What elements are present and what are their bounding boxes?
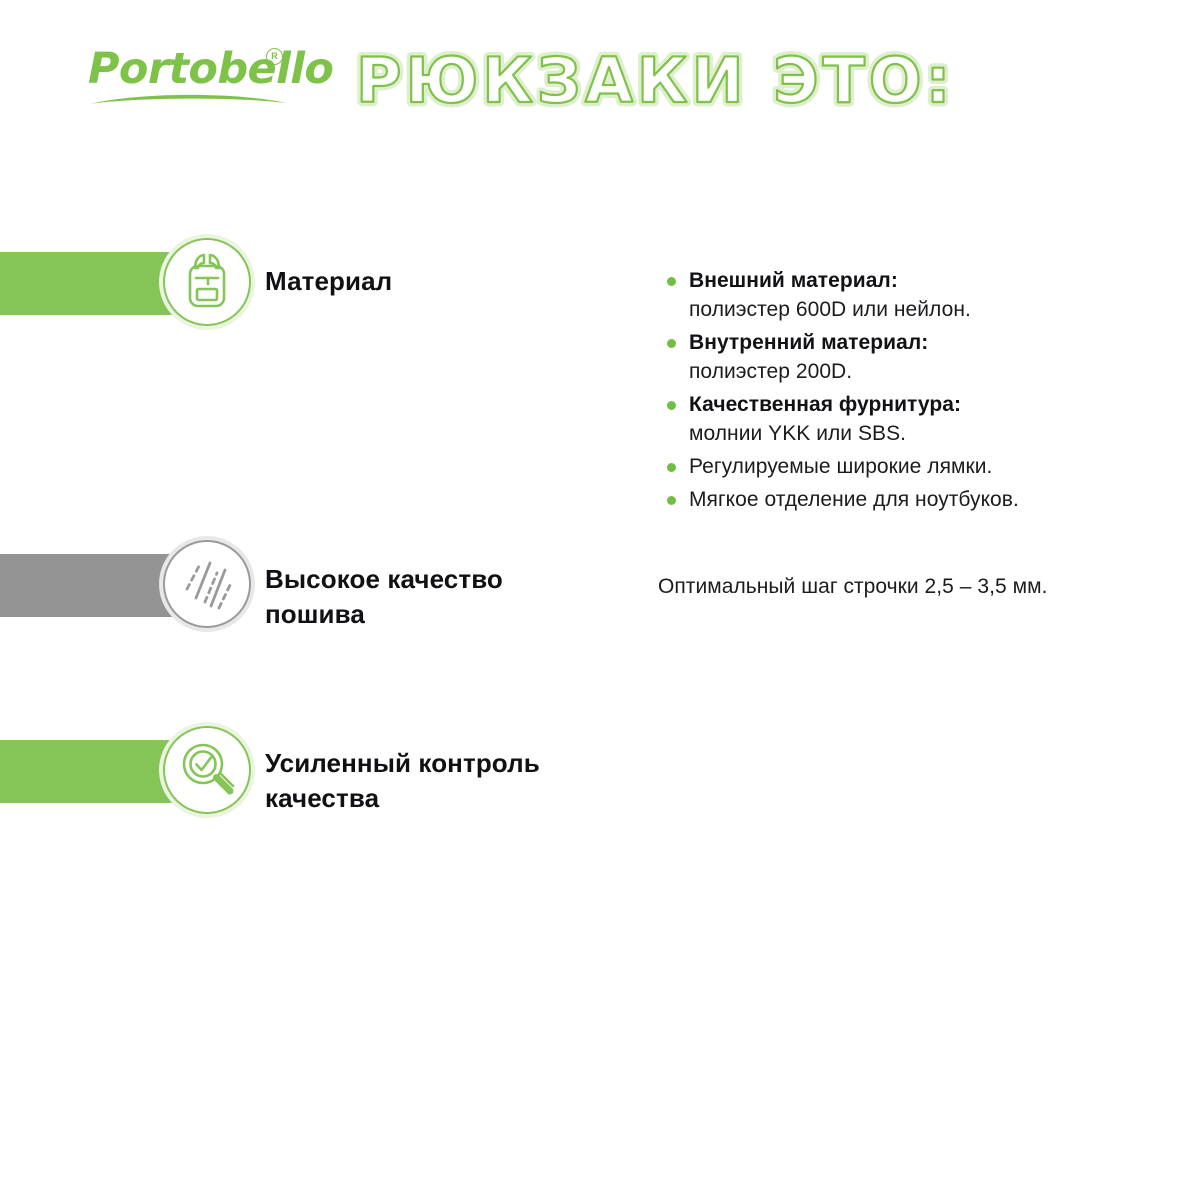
registered-trademark-icon: R: [266, 48, 283, 65]
page-title-text: РЮКЗАКИ ЭТО: РЮКЗАКИ ЭТО:: [352, 42, 992, 122]
page-title: РЮКЗАКИ ЭТО: РЮКЗАКИ ЭТО:: [352, 42, 992, 122]
header: Portobello R РЮКЗАКИ ЭТО: РЮКЗАКИ ЭТО:: [0, 0, 1200, 150]
infographic-page: Portobello R РЮКЗАКИ ЭТО: РЮКЗАКИ ЭТО:: [0, 0, 1200, 1200]
list-item-detail: полиэстер 600D или нейлон.: [689, 295, 1129, 324]
list-item: Внутренний материал:полиэстер 200D.: [659, 328, 1129, 386]
stitching-icon: [163, 540, 251, 628]
bullet-dot-icon: [667, 496, 676, 505]
icon-badge-material: [159, 234, 255, 330]
icon-badge-quality: [159, 722, 255, 818]
section-title-quality: Усиленный контроль качества: [265, 746, 540, 816]
logo-swoosh-icon: [88, 90, 288, 106]
section-title-material: Материал: [265, 264, 392, 299]
list-item-label: Качественная фурнитура:: [689, 390, 1129, 419]
list-item: Мягкое отделение для ноутбуков.: [659, 485, 1129, 514]
list-item-label: Внешний материал:: [689, 266, 1129, 295]
bullet-dot-icon: [667, 463, 676, 472]
icon-badge-stitch: [159, 536, 255, 632]
brand-logo: Portobello R: [88, 46, 303, 108]
bullet-dot-icon: [667, 401, 676, 410]
list-item: Внешний материал:полиэстер 600D или нейл…: [659, 266, 1129, 324]
section-title-stitch: Высокое качество пошива: [265, 562, 503, 632]
list-item-text: Мягкое отделение для ноутбуков.: [689, 485, 1129, 514]
list-item-detail: полиэстер 200D.: [689, 357, 1129, 386]
list-item-text: Регулируемые широкие лямки.: [689, 452, 1129, 481]
list-item-label: Внутренний материал:: [689, 328, 1129, 357]
magnifier-check-icon: [163, 726, 251, 814]
list-item-detail: молнии YKK или SBS.: [689, 419, 1129, 448]
list-item: Регулируемые широкие лямки.: [659, 452, 1129, 481]
backpack-icon: [163, 238, 251, 326]
list-item: Качественная фурнитура:молнии YKK или SB…: [659, 390, 1129, 448]
svg-text:РЮКЗАКИ ЭТО:: РЮКЗАКИ ЭТО:: [356, 44, 954, 117]
material-bullet-list: Внешний материал:полиэстер 600D или нейл…: [659, 266, 1129, 518]
bullet-dot-icon: [667, 277, 676, 286]
bullet-dot-icon: [667, 339, 676, 348]
stitch-note: Оптимальный шаг строчки 2,5 – 3,5 мм.: [658, 572, 1047, 601]
